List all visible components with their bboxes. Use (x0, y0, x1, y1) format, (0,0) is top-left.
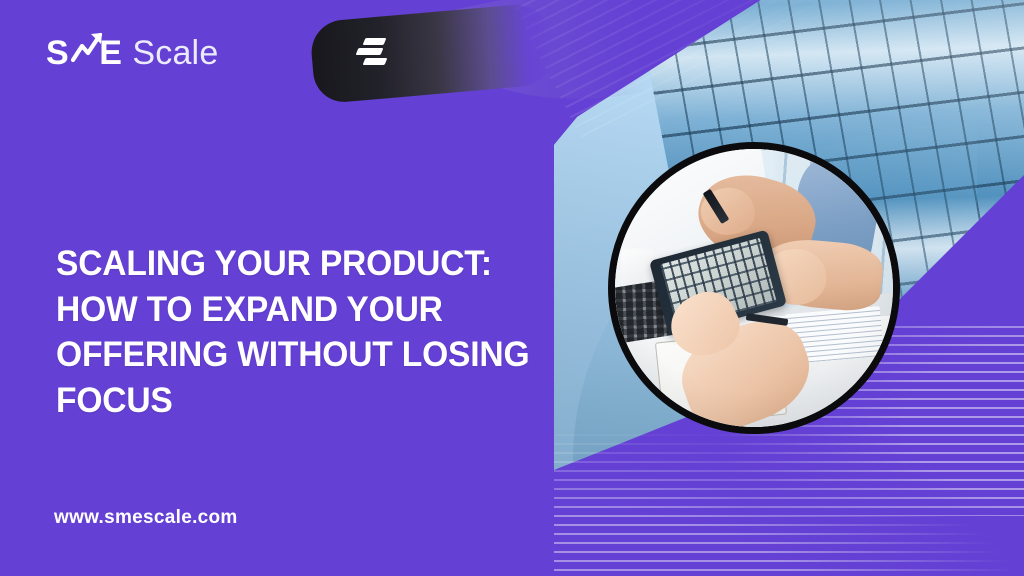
circular-photo-medallion (608, 142, 900, 434)
stacked-bars-icon-bar-2 (356, 48, 384, 55)
page-title: Scaling Your Product: How to Expand Your… (56, 241, 579, 423)
stacked-bars-icon-bar-3 (363, 58, 388, 65)
wordmark-light-text: Scale (132, 36, 218, 70)
brand-wordmark[interactable]: SE Scale (46, 30, 218, 76)
wordmark-bold-text: SE (46, 36, 122, 70)
wordmark-letter-e: E (99, 34, 122, 72)
marketing-banner: SE Scale Scaling Your Product: How to Ex… (0, 0, 1024, 576)
wordmark-letter-s: S (46, 34, 69, 72)
stacked-bars-icon-bar-1 (363, 38, 387, 45)
photo-vignette (615, 149, 893, 427)
website-url: www.smescale.com (54, 507, 238, 529)
medallion-photo (615, 149, 893, 427)
stacked-bars-icon (355, 38, 391, 68)
